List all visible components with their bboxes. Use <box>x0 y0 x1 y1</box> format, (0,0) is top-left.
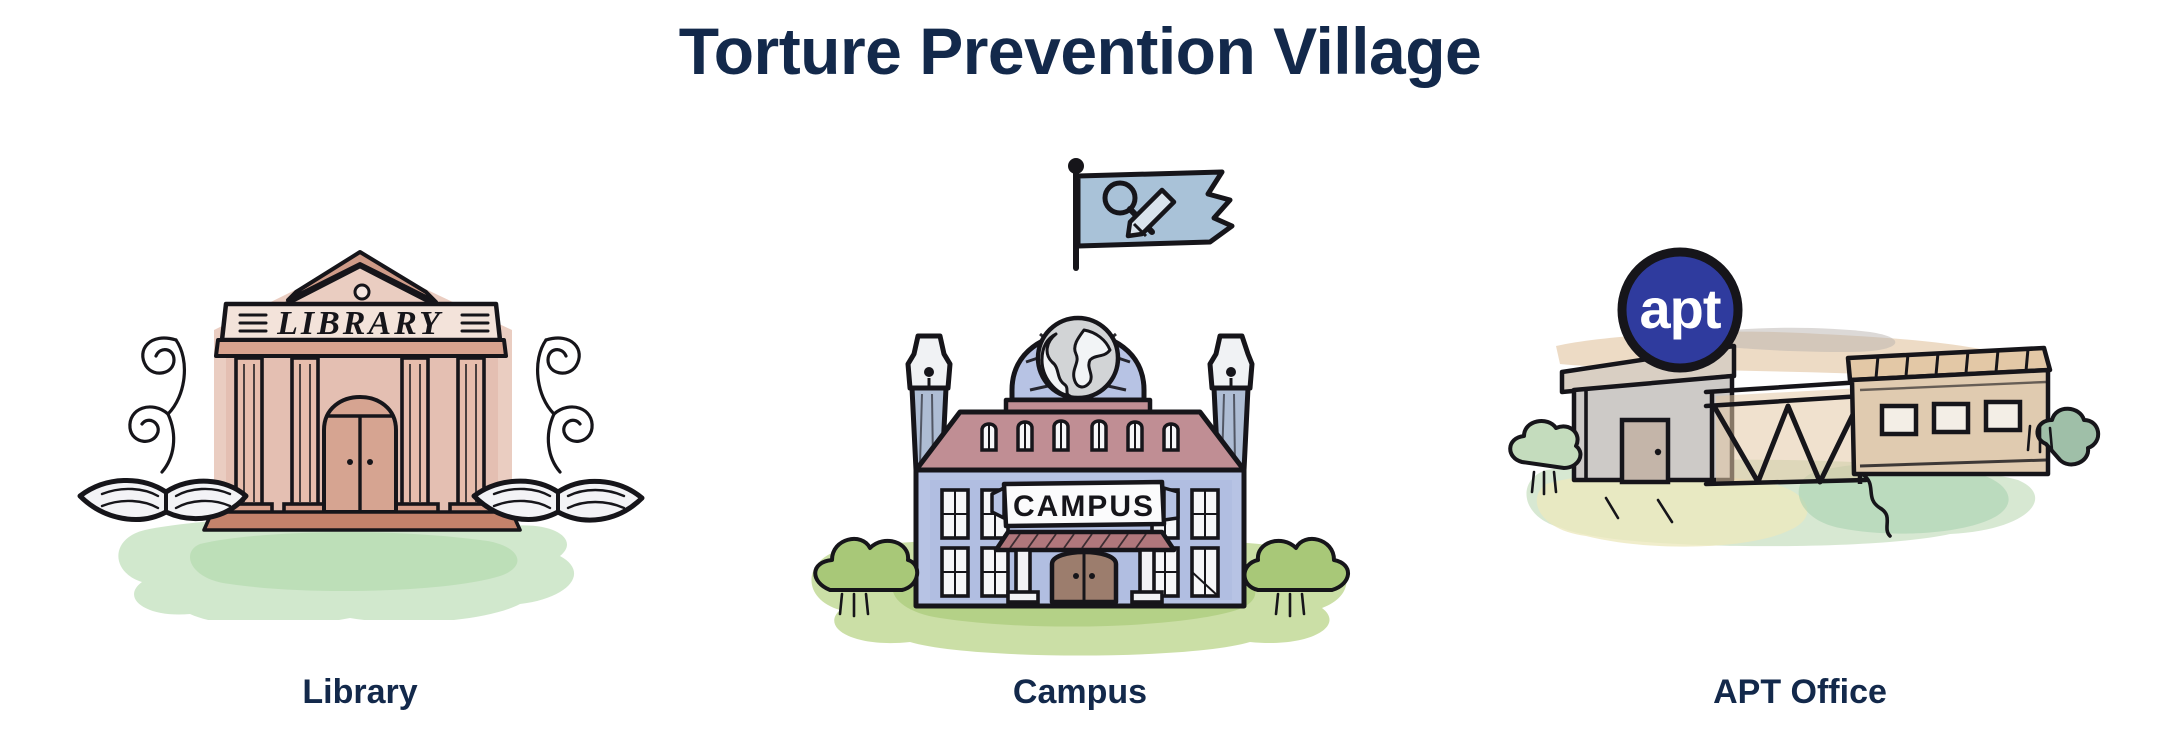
apt-left-wing-door[interactable] <box>1622 420 1668 482</box>
library-sign-text: LIBRARY <box>276 305 443 342</box>
campus-svg: CAMPUS <box>770 150 1390 670</box>
card-label-campus: Campus <box>1013 672 1147 713</box>
library-door[interactable] <box>324 397 396 512</box>
library-swirl-right-icon <box>538 338 593 472</box>
campus-banner: CAMPUS <box>992 482 1178 526</box>
village-card-library[interactable]: LIBRARY <box>0 150 720 750</box>
apt-logo-sign[interactable]: apt <box>1622 252 1738 368</box>
apt-office-building-illustration: apt <box>1450 150 2150 670</box>
campus-flagpole-finial <box>1068 158 1084 174</box>
page-title: Torture Prevention Village <box>0 14 2160 90</box>
campus-flag <box>1078 172 1232 246</box>
card-label-library: Library <box>302 672 417 713</box>
village-card-apt-office[interactable]: apt APT Office <box>1440 150 2160 750</box>
library-open-book-left-icon <box>80 480 246 519</box>
library-swirl-left-icon <box>130 338 185 472</box>
village-card-grid: LIBRARY <box>0 150 2160 750</box>
village-card-campus[interactable]: CAMPUS <box>720 150 1440 750</box>
apt-window-row <box>1882 402 2020 434</box>
library-open-book-right-icon <box>474 481 642 520</box>
campus-globe-clock-tower <box>1006 318 1150 412</box>
library-grass-wash-2 <box>190 532 517 591</box>
library-entablature: LIBRARY <box>216 304 506 356</box>
apt-w-truss-structure <box>1706 382 1866 484</box>
apt-logo-text: apt <box>1640 277 1721 340</box>
card-label-apt-office: APT Office <box>1713 672 1887 713</box>
library-steps <box>204 512 520 530</box>
apt-office-svg: apt <box>1490 230 2110 590</box>
campus-entrance-canopy <box>996 532 1174 550</box>
campus-main-door[interactable] <box>1052 552 1116 602</box>
library-building-illustration: LIBRARY <box>10 150 710 670</box>
village-page: Torture Prevention Village <box>0 0 2160 750</box>
campus-building-illustration: CAMPUS <box>730 150 1430 670</box>
campus-banner-text: CAMPUS <box>1013 490 1155 523</box>
library-svg: LIBRARY <box>50 200 670 620</box>
campus-roof <box>916 412 1244 470</box>
